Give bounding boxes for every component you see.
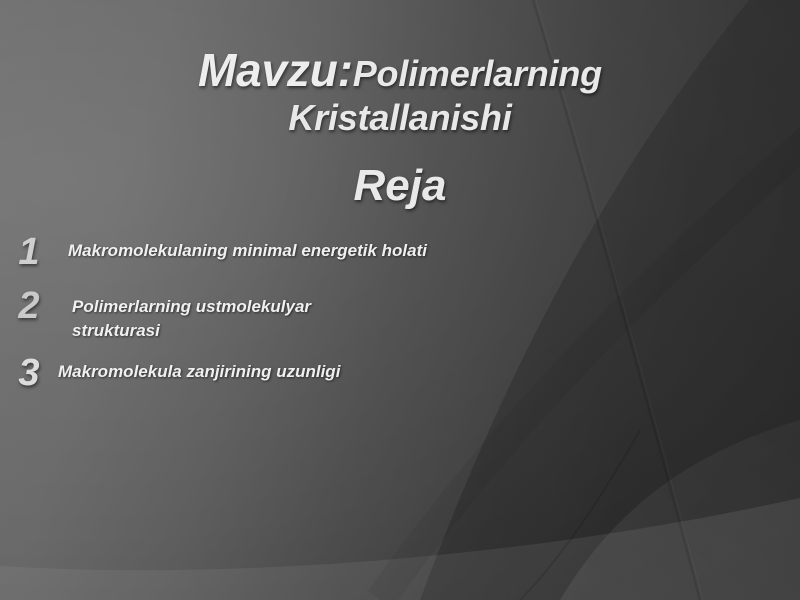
slide-title: Mavzu:Polimerlarning Kristallanishi (0, 48, 800, 140)
list-item-number: 1 (0, 230, 58, 274)
list-item: 3 Makromolekula zanjirining uzunligi (0, 351, 560, 395)
presentation-slide: Mavzu:Polimerlarning Kristallanishi Reja… (0, 0, 800, 600)
list-item-text: Makromolekula zanjirining uzunligi (58, 351, 560, 384)
title-line-2: Kristallanishi (60, 96, 740, 140)
list-item: 1 Makromolekulaning minimal energetik ho… (0, 230, 560, 274)
agenda-list: 1 Makromolekulaning minimal energetik ho… (0, 230, 560, 395)
title-line-1: Mavzu:Polimerlarning (60, 48, 740, 96)
title-lead-word: Mavzu: (198, 44, 353, 96)
list-item: 2 Polimerlarning ustmolekulyar struktura… (0, 284, 560, 343)
list-item-text: Polimerlarning ustmolekulyar strukturasi (58, 284, 402, 343)
list-item-text: Makromolekulaning minimal energetik hola… (58, 230, 460, 263)
list-item-number: 3 (0, 351, 58, 395)
title-rest-word: Polimerlarning (353, 53, 602, 94)
slide-content: Mavzu:Polimerlarning Kristallanishi Reja… (0, 0, 800, 600)
section-heading: Reja (0, 160, 800, 212)
list-item-number: 2 (0, 284, 58, 328)
